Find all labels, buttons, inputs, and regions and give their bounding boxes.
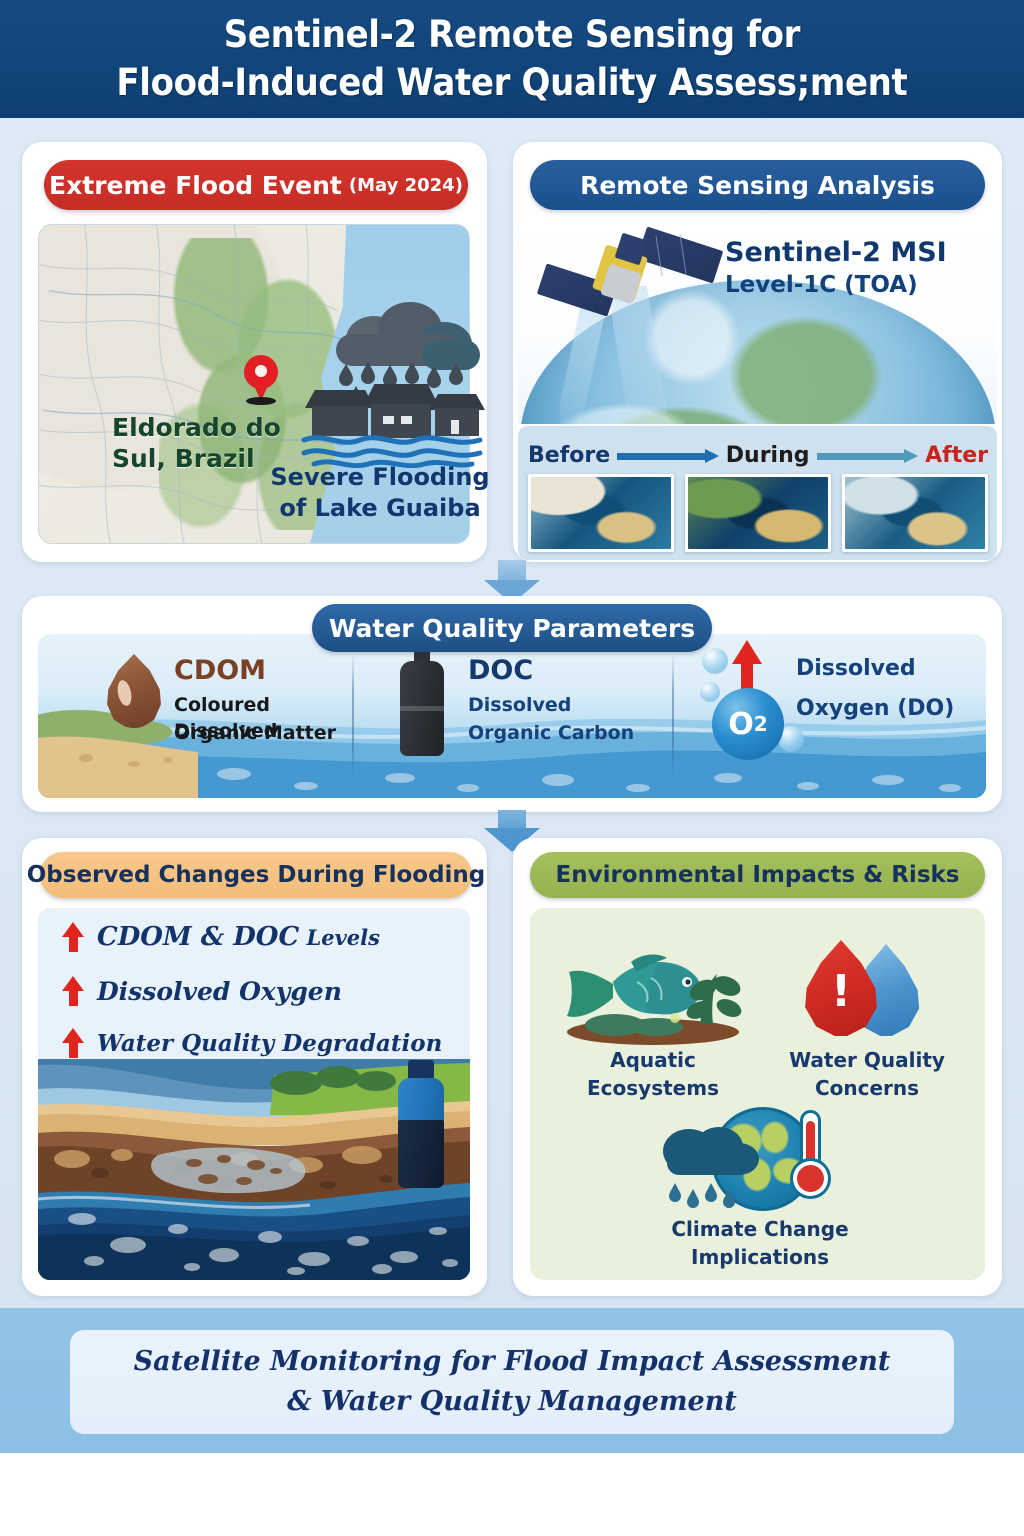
timeline-labels: Before During After [528, 436, 988, 474]
flood-event-header-date: (May 2024) [349, 175, 463, 196]
env-item-aquatic-line2: Ecosystems [548, 1074, 758, 1102]
flood-description-label: Severe Flooding of Lake Guaiba [270, 462, 490, 524]
page-title-line1: Sentinel-2 Remote Sensing for [116, 11, 907, 59]
observed-item-3: Water Quality Degradation [62, 1028, 442, 1058]
warning-droplet-icon: ! [802, 940, 880, 1036]
env-item-climate-change: Climate Change Implications [655, 1105, 865, 1271]
parameter-cdom-acronym: CDOM [174, 656, 266, 686]
env-item-water-quality-concerns: ! Water Quality Concerns [762, 928, 972, 1102]
parameter-cdom-line2: Organic Matter [174, 720, 336, 746]
remote-sensing-header-label: Remote Sensing Analysis [580, 171, 935, 200]
env-item-water-line1: Water Quality [762, 1046, 972, 1074]
o2-bubble-icon: O2 [712, 688, 784, 760]
satellite-icon [540, 228, 720, 333]
parameter-divider-2 [672, 654, 674, 778]
parameter-doc-line1: Dissolved [468, 692, 571, 718]
page-title: Sentinel-2 Remote Sensing for Flood-Indu… [116, 11, 907, 107]
sensor-title: Sentinel-2 MSI [725, 236, 995, 270]
env-item-aquatic-ecosystems: Aquatic Ecosystems [548, 928, 758, 1102]
parameter-dissolved-oxygen: O2 Dissolved Oxygen (DO) [700, 634, 990, 798]
exclamation-mark: ! [831, 966, 851, 1017]
parameter-doc: DOC Dissolved Organic Carbon [400, 634, 660, 798]
timeline-label-after: After [925, 443, 988, 468]
map-location-pin-icon [244, 355, 278, 401]
observed-item-2: Dissolved Oxygen [62, 976, 342, 1006]
thumbnail-before[interactable] [528, 474, 674, 552]
timeline-thumbnails [528, 474, 988, 552]
footer-text: Satellite Monitoring for Flood Impact As… [134, 1342, 891, 1422]
observed-item-1-strong: CDOM & DOC [97, 922, 299, 952]
water-quality-header-label: Water Quality Parameters [329, 614, 695, 643]
map-location-line1: Eldorado do [112, 412, 322, 443]
thermometer-icon [795, 1113, 825, 1197]
env-item-climate-line1: Climate Change [655, 1215, 865, 1243]
flood-event-header: Extreme Flood Event (May 2024) [44, 160, 468, 210]
timeline-arrow-1-icon [617, 449, 719, 461]
up-arrow-icon [732, 640, 762, 692]
rain-cloud-icon [655, 1117, 763, 1213]
parameter-do-line1: Dissolved [796, 656, 916, 682]
remote-sensing-header: Remote Sensing Analysis [530, 160, 985, 210]
water-quality-header: Water Quality Parameters [312, 604, 712, 652]
observed-item-3-label: Water Quality Degradation [97, 1030, 442, 1057]
parameter-doc-acronym: DOC [468, 656, 533, 686]
observed-item-1: CDOM & DOC Levels [62, 922, 380, 952]
up-arrow-icon [62, 922, 84, 952]
timeline-label-during: During [726, 443, 810, 468]
env-item-water-line2: Concerns [762, 1074, 972, 1102]
brown-droplet-icon [106, 654, 162, 728]
parameter-doc-line2: Organic Carbon [468, 720, 634, 746]
satellite-panel-grid [634, 234, 724, 278]
parameter-cdom: CDOM Coloured Dissolved Organic Matter [106, 634, 356, 798]
env-item-aquatic-line1: Aquatic [548, 1046, 758, 1074]
footer-line1: Satellite Monitoring for Flood Impact As… [134, 1342, 891, 1382]
observed-item-2-label: Dissolved Oxygen [97, 977, 342, 1006]
footer-line2: & Water Quality Management [134, 1382, 891, 1422]
observed-item-1-rest: Levels [299, 925, 380, 950]
timeline-arrow-2-icon [817, 449, 919, 461]
water-bottle-icon [392, 1060, 448, 1188]
environmental-impacts-header: Environmental Impacts & Risks [530, 852, 985, 898]
water-cross-section-illustration [38, 1059, 470, 1280]
flood-description-line2: of Lake Guaiba [270, 493, 490, 524]
flood-description-line1: Severe Flooding [270, 462, 490, 493]
o2-badge-sub: 2 [754, 712, 768, 736]
thumbnail-after[interactable] [842, 474, 988, 552]
up-arrow-icon [62, 976, 84, 1006]
bubble-icon-2 [700, 682, 720, 702]
sensor-subtitle: Level-1C (TOA) [725, 272, 995, 298]
infographic-page: Sentinel-2 Remote Sensing for Flood-Indu… [0, 0, 1024, 1536]
up-arrow-icon [62, 1028, 84, 1058]
parameter-do-line2: Oxygen (DO) [796, 696, 954, 722]
environmental-impacts-header-label: Environmental Impacts & Risks [556, 862, 960, 888]
dark-bottle-icon [400, 648, 444, 756]
bubble-icon-1 [702, 648, 728, 674]
observed-item-1-label: CDOM & DOC Levels [97, 922, 380, 952]
o2-badge-letter: O [728, 707, 754, 742]
observed-changes-header-label: Observed Changes During Flooding [27, 862, 486, 888]
fish-plant-icon [553, 928, 753, 1046]
timeline-label-before: Before [528, 443, 610, 468]
page-title-line2: Flood-Induced Water Quality Assess;ment [116, 59, 907, 107]
env-item-climate-line2: Implications [655, 1243, 865, 1271]
observed-changes-header: Observed Changes During Flooding [40, 852, 472, 898]
page-title-bar: Sentinel-2 Remote Sensing for Flood-Indu… [0, 0, 1024, 118]
footer-card: Satellite Monitoring for Flood Impact As… [70, 1330, 954, 1434]
thumbnail-during[interactable] [685, 474, 831, 552]
flood-event-header-label: Extreme Flood Event [49, 171, 342, 200]
